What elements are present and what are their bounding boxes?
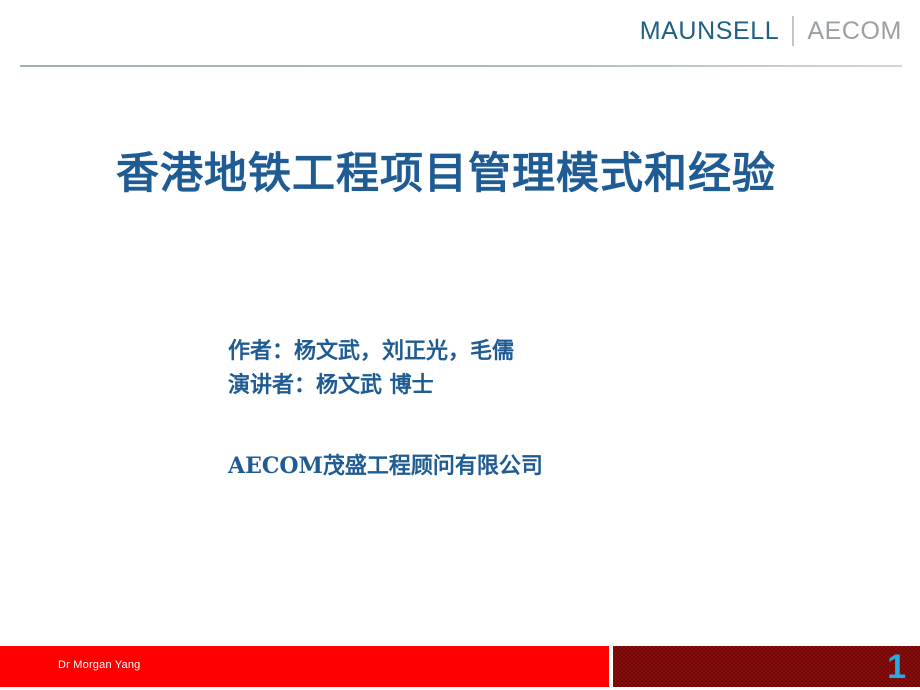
slide-page-number: 1 — [887, 646, 906, 687]
brand-logo: MAUNSELL AECOM — [640, 14, 902, 48]
footer-presenter-label: Dr Morgan Yang — [58, 659, 141, 671]
footer-right-bar — [613, 646, 920, 687]
presenter-line: 演讲者：杨文武 博士 — [228, 369, 514, 403]
maunsell-wordmark: MAUNSELL — [640, 19, 793, 44]
presentation-slide: MAUNSELL AECOM 香港地铁工程项目管理模式和经验 作者：杨文武，刘正… — [0, 0, 920, 690]
aecom-wordmark: AECOM — [794, 19, 902, 44]
company-name: AECOM茂盛工程顾问有限公司 — [228, 448, 543, 480]
header-divider-rule — [20, 65, 902, 67]
authors-line: 作者：杨文武，刘正光，毛儒 — [228, 335, 514, 369]
byline-block: 作者：杨文武，刘正光，毛儒 演讲者：杨文武 博士 — [228, 335, 514, 403]
page-title: 香港地铁工程项目管理模式和经验 — [116, 150, 856, 199]
